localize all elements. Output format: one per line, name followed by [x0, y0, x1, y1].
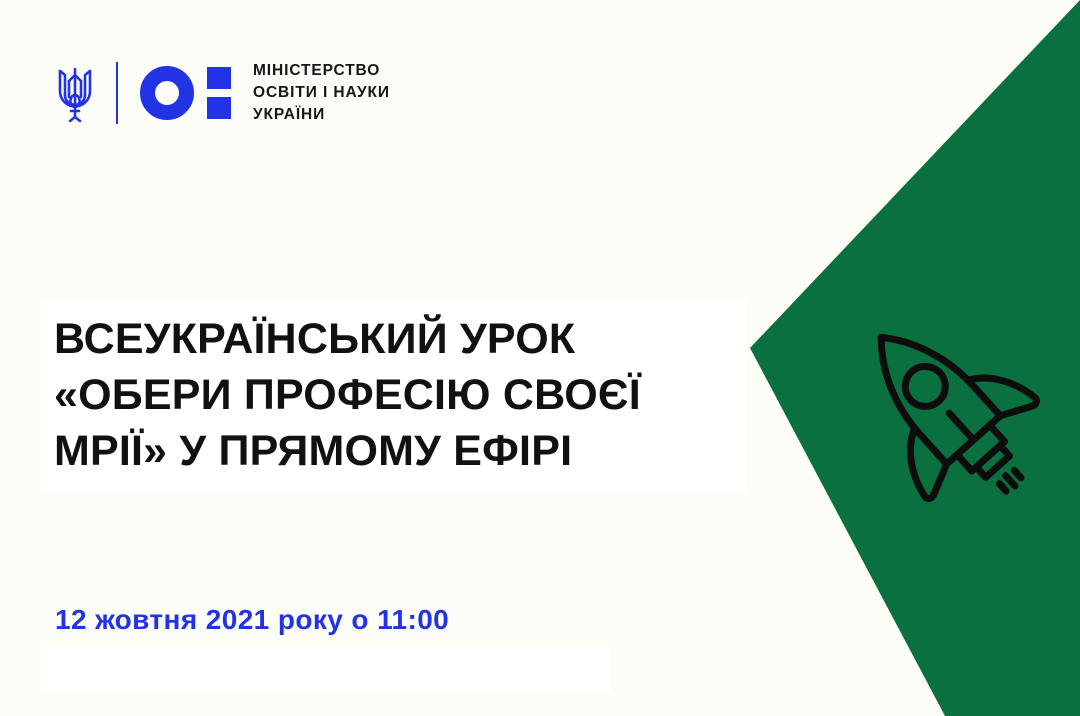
logo-square-top — [207, 67, 231, 89]
logo-square-bottom — [207, 97, 231, 119]
date-backdrop-plate — [42, 645, 610, 692]
logo-squares-icon — [207, 67, 231, 119]
ministry-name: МІНІСТЕРСТВО ОСВІТИ І НАУКИ УКРАЇНИ — [253, 60, 390, 126]
rocket-icon — [828, 296, 1056, 514]
poster-canvas: МІНІСТЕРСТВО ОСВІТИ І НАУКИ УКРАЇНИ ВСЕУ… — [0, 0, 1080, 716]
page-title-line-2: «ОБЕРИ ПРОФЕСІЮ СВОЄЇ — [54, 368, 744, 424]
logo-ring-icon — [140, 66, 194, 120]
event-datetime: 12 жовтня 2021 року о 11:00 — [55, 604, 449, 636]
mon-circle-squares-mark — [140, 66, 231, 120]
ministry-name-line-1: МІНІСТЕРСТВО — [253, 60, 390, 82]
logo-divider — [116, 62, 118, 124]
page-title-line-1: ВСЕУКРАЇНСЬКИЙ УРОК — [54, 312, 744, 368]
page-title-line-3: МРІЇ» У ПРЯМОМУ ЕФІРІ — [54, 424, 744, 480]
ministry-name-line-3: УКРАЇНИ — [253, 104, 390, 126]
page-title: ВСЕУКРАЇНСЬКИЙ УРОК «ОБЕРИ ПРОФЕСІЮ СВОЄ… — [54, 312, 744, 480]
ministry-name-line-2: ОСВІТИ І НАУКИ — [253, 82, 390, 104]
ukrainian-trident-emblem — [54, 61, 96, 125]
ministry-logo: МІНІСТЕРСТВО ОСВІТИ І НАУКИ УКРАЇНИ — [54, 60, 390, 126]
